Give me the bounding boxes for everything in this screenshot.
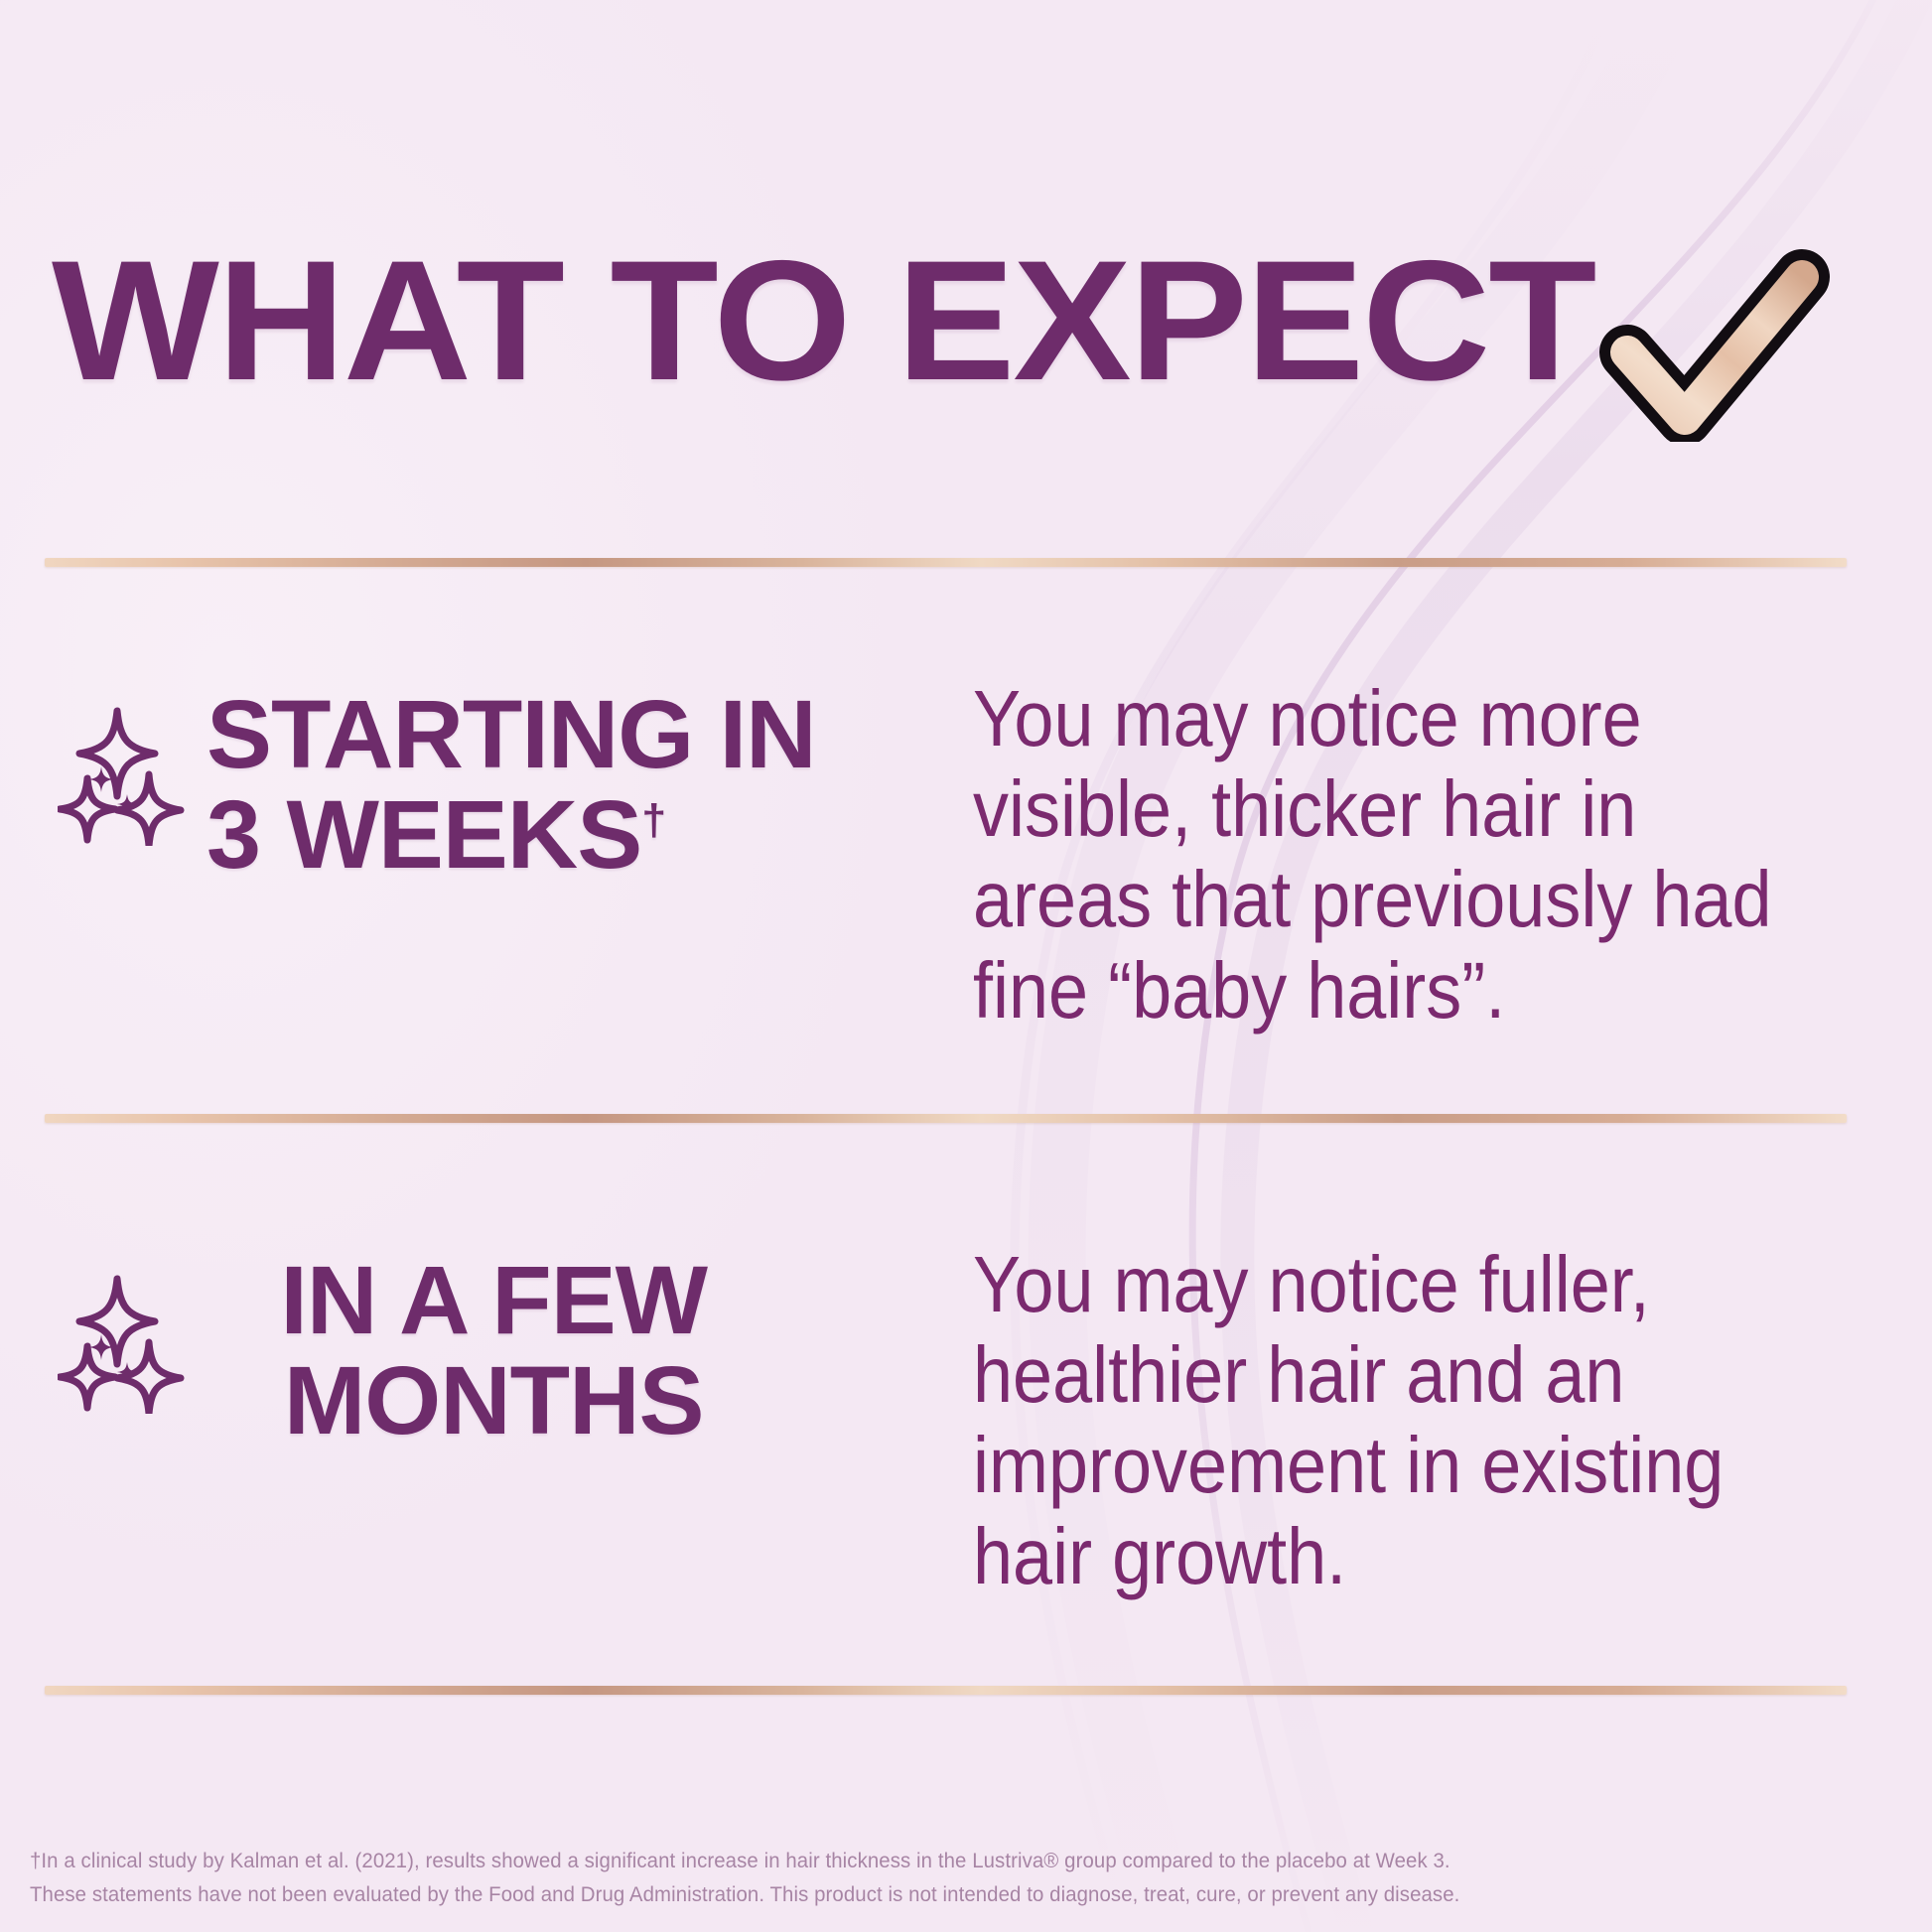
- footnote-fda-disclaimer: These statements have not been evaluated…: [30, 1878, 1686, 1912]
- row-heading-line2: MONTHS: [284, 1346, 704, 1454]
- row-right-few-months: You may notice fuller, healthier hair an…: [945, 1239, 1880, 1601]
- row-left-3-weeks: STARTING IN 3 WEEKS†: [52, 685, 945, 886]
- divider-top: [45, 558, 1847, 567]
- row-heading-few-months: IN A FEW MONTHS: [230, 1251, 757, 1451]
- divider-middle: [45, 1114, 1847, 1123]
- row-heading-line2: 3 WEEKS: [207, 780, 641, 889]
- page-header: WHAT TO EXPECT: [52, 226, 1880, 415]
- row-heading-line1: STARTING IN: [207, 680, 816, 788]
- row-heading-3-weeks: STARTING IN 3 WEEKS†: [207, 685, 816, 886]
- page-title: WHAT TO EXPECT: [52, 242, 1594, 399]
- row-body-few-months: You may notice fuller, healthier hair an…: [973, 1239, 1790, 1601]
- footnote-clinical-study: †In a clinical study by Kalman et al. (2…: [30, 1845, 1686, 1878]
- divider-bottom: [45, 1686, 1847, 1695]
- checkmark-icon: [1597, 243, 1836, 447]
- expectation-row-few-months: IN A FEW MONTHS You may notice fuller, h…: [52, 1251, 1880, 1601]
- row-body-3-weeks: You may notice more visible, thicker hai…: [973, 673, 1790, 1035]
- row-heading-line1: IN A FEW: [280, 1246, 707, 1354]
- infographic-page: WHAT TO EXPECT: [0, 0, 1932, 1932]
- expectation-row-3-weeks: STARTING IN 3 WEEKS† You may notice more…: [52, 685, 1880, 1035]
- row-right-3-weeks: You may notice more visible, thicker hai…: [945, 673, 1880, 1035]
- sparkles-icon: [58, 1275, 185, 1419]
- row-left-few-months: IN A FEW MONTHS: [52, 1251, 945, 1451]
- footnotes: †In a clinical study by Kalman et al. (2…: [30, 1845, 1737, 1912]
- sparkles-icon: [58, 707, 185, 851]
- dagger-superscript: †: [641, 796, 665, 845]
